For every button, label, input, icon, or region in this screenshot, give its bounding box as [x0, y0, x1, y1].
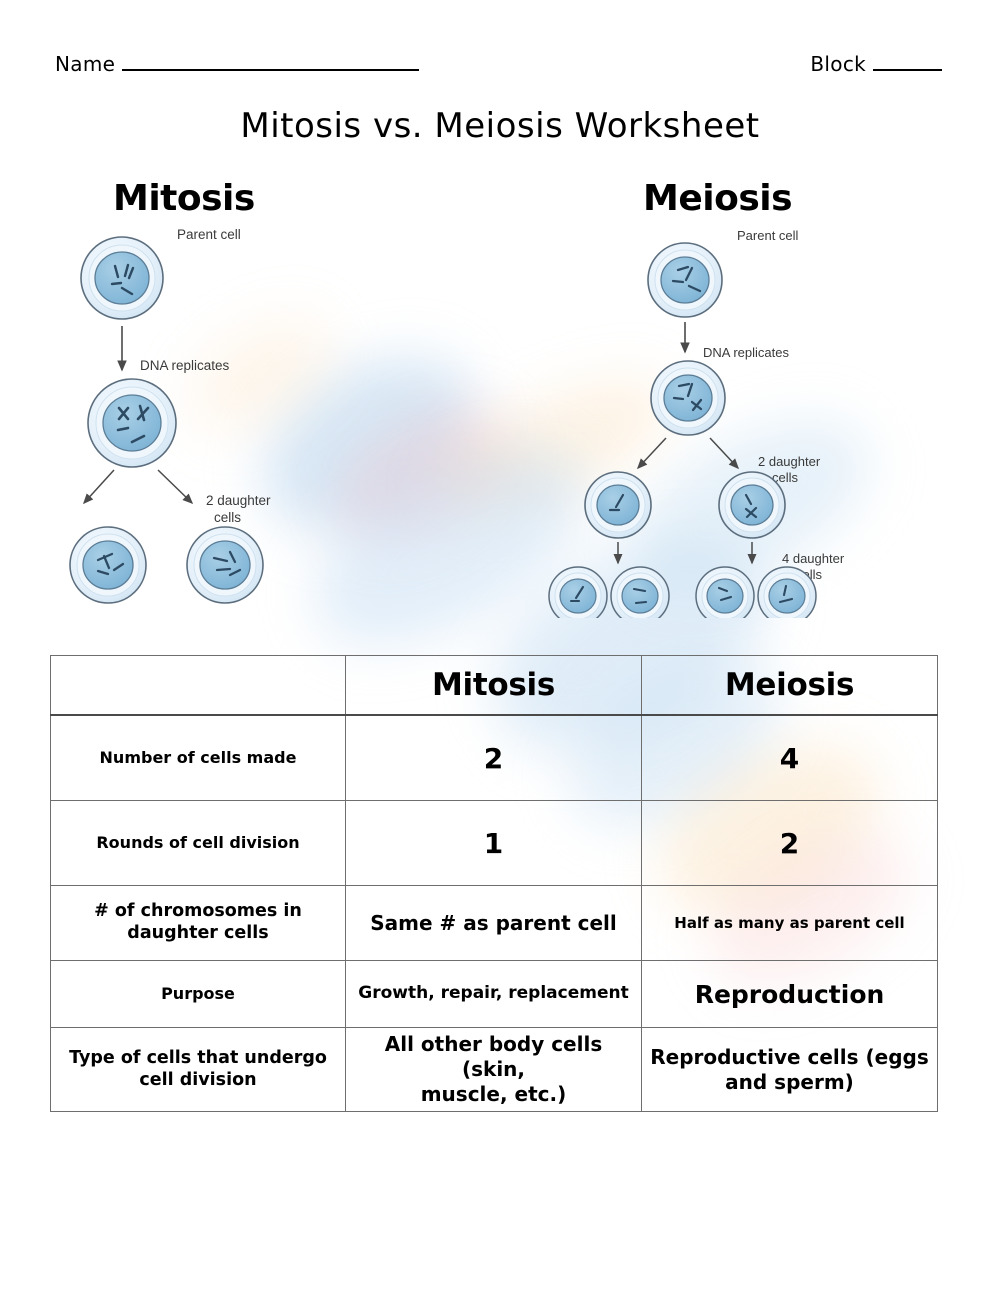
mitosis-parent-cell [81, 237, 163, 319]
student-info-row: Name Block [0, 52, 1000, 84]
meiosis-split-arrow-left [638, 438, 666, 468]
table-row: # of chromosomes in daughter cells Same … [51, 886, 938, 961]
meiosis-heading: Meiosis [643, 178, 792, 219]
cell-mitosis-cell-types: All other body cells (skin, muscle, etc.… [346, 1028, 642, 1112]
cell-meiosis-cell-types: Reproductive cells (eggs and sperm) [642, 1028, 938, 1112]
meiosis-replicated-cell [651, 361, 725, 435]
mitosis-replicate-label: DNA replicates [140, 358, 230, 373]
cell-mitosis-rounds-division: 1 [346, 801, 642, 886]
table-row: Number of cells made 2 4 [51, 715, 938, 801]
name-field-group: Name [55, 52, 419, 76]
cell-meiosis-cells-made: 4 [642, 715, 938, 801]
row-label-rounds-division: Rounds of cell division [51, 801, 346, 886]
cell-meiosis-rounds-division: 2 [642, 801, 938, 886]
meiosis-final-cell-4 [758, 567, 816, 618]
row-label-purpose: Purpose [51, 961, 346, 1028]
cell-meiosis-purpose: Reproduction [642, 961, 938, 1028]
meiosis-daughter2-label-line1: 2 daughter [758, 454, 821, 469]
table-row: Type of cells that undergo cell division… [51, 1028, 938, 1112]
mitosis-diagram: Parent cell DNA replicates 2 daughter ce… [62, 218, 382, 618]
meiosis-parent-cell [648, 243, 722, 317]
comparison-table: Mitosis Meiosis Number of cells made 2 4… [50, 655, 938, 1112]
table-row: Rounds of cell division 1 2 [51, 801, 938, 886]
mitosis-split-arrow-left [84, 470, 114, 503]
mitosis-heading: Mitosis [113, 178, 255, 219]
meiosis-daughter-cell-1 [585, 472, 651, 538]
meiosis-diagram: Parent cell DNA replicates 2 daughter ce… [540, 218, 920, 618]
mitosis-parent-label: Parent cell [177, 227, 241, 242]
mitosis-daughter-label-line2: cells [214, 510, 241, 525]
row-label-cells-made: Number of cells made [51, 715, 346, 801]
mitosis-daughter-label-line1: 2 daughter [206, 493, 271, 508]
mitosis-daughter-cell-1 [70, 527, 146, 603]
cell-mitosis-purpose: Growth, repair, replacement [346, 961, 642, 1028]
block-write-in-line[interactable] [873, 55, 942, 71]
meiosis-parent-label: Parent cell [737, 228, 799, 243]
meiosis-replicate-label: DNA replicates [703, 345, 789, 360]
meiosis-daughter4-label-line1: 4 daughter [782, 551, 845, 566]
table-corner-cell [51, 656, 346, 716]
meiosis-final-cell-1 [549, 567, 607, 618]
block-label: Block [810, 52, 866, 76]
cell-mitosis-cells-made: 2 [346, 715, 642, 801]
row-label-chromosome-count: # of chromosomes in daughter cells [51, 886, 346, 961]
cell-mitosis-chromosome-count: Same # as parent cell [346, 886, 642, 961]
name-label: Name [55, 52, 115, 76]
meiosis-final-cell-3 [696, 567, 754, 618]
row-label-cell-types: Type of cells that undergo cell division [51, 1028, 346, 1112]
cell-meiosis-chromosome-count: Half as many as parent cell [642, 886, 938, 961]
mitosis-split-arrow-right [158, 470, 192, 503]
page-title: Mitosis vs. Meiosis Worksheet [0, 106, 1000, 146]
table-header-mitosis: Mitosis [346, 656, 642, 716]
table-header-meiosis-label: Meiosis [649, 667, 930, 703]
meiosis-split-arrow-right [710, 438, 738, 468]
meiosis-daughter-cell-2 [719, 472, 785, 538]
name-write-in-line[interactable] [122, 55, 419, 71]
table-header-meiosis: Meiosis [642, 656, 938, 716]
diagram-section: Mitosis Meiosis [0, 178, 1000, 628]
meiosis-final-cell-2 [611, 567, 669, 618]
mitosis-replicated-cell [88, 379, 176, 467]
table-header-row: Mitosis Meiosis [51, 656, 938, 716]
mitosis-daughter-cell-2 [187, 527, 263, 603]
block-field-group: Block [810, 52, 942, 76]
table-header-mitosis-label: Mitosis [353, 667, 634, 703]
table-row: Purpose Growth, repair, replacement Repr… [51, 961, 938, 1028]
